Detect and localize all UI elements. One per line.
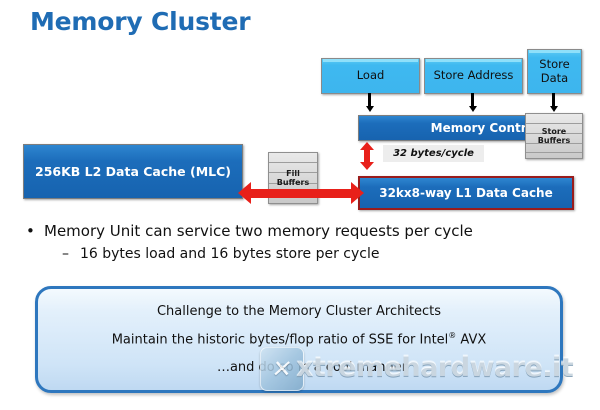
l1-data-cache-label: 32kx8-way L1 Data Cache (379, 186, 553, 200)
bullet-level2: –16 bytes load and 16 bytes store per cy… (62, 246, 379, 262)
store-address-box[interactable]: Store Address (424, 58, 523, 94)
store-address-box-label: Store Address (434, 69, 514, 82)
load-box-label: Load (357, 69, 385, 82)
bandwidth-label-text: 32 bytes/cycle (393, 148, 474, 159)
l2-data-cache-label: 256KB L2 Data Cache (MLC) (35, 164, 231, 179)
callout-line-2-post: AVX (456, 333, 486, 348)
arrow-store-address-to-memory-control-icon (468, 93, 477, 112)
callout-line-2: Maintain the historic bytes/flop ratio o… (52, 331, 546, 347)
load-box[interactable]: Load (321, 58, 420, 94)
fill-buffers-label-line2: Buffers (277, 178, 309, 187)
xtremehardware-logo-icon: ✕ (260, 347, 304, 391)
bandwidth-label: 32 bytes/cycle (383, 145, 484, 162)
fill-buffers-label-line1: Fill (286, 169, 300, 178)
bullet-glyph: • (26, 222, 44, 240)
arrow-load-to-memory-control-icon (365, 93, 374, 112)
callout-line-2-pre: Maintain the historic bytes/flop ratio o… (112, 333, 449, 348)
callout-line-1: Challenge to the Memory Cluster Architec… (52, 304, 546, 319)
bullet-level2-text: 16 bytes load and 16 bytes store per cyc… (80, 246, 379, 262)
xtremehardware-logo-glyph: ✕ (270, 357, 293, 381)
l1-data-cache-box[interactable]: 32kx8-way L1 Data Cache (358, 176, 574, 210)
store-buffers-label-line2: Buffers (538, 136, 570, 145)
memory-control-label: Memory Control (431, 121, 539, 135)
arrow-store-data-to-store-buffers-icon (549, 93, 558, 112)
dash-glyph: – (62, 246, 80, 262)
store-data-box-label: Store Data (528, 58, 581, 84)
store-buffers-stack[interactable]: Store Buffers (525, 113, 583, 159)
bullet-level1: •Memory Unit can service two memory requ… (26, 222, 473, 240)
slide-canvas: Memory Cluster Load Store Address Store … (0, 0, 600, 410)
page-title: Memory Cluster (30, 7, 250, 36)
store-buffers-label-line1: Store (542, 127, 566, 136)
l2-data-cache-box[interactable]: 256KB L2 Data Cache (MLC) (23, 144, 243, 199)
bullet-level1-text: Memory Unit can service two memory reque… (44, 222, 473, 240)
store-data-box[interactable]: Store Data (527, 49, 582, 94)
arrow-memory-control-l1-icon (360, 142, 374, 170)
